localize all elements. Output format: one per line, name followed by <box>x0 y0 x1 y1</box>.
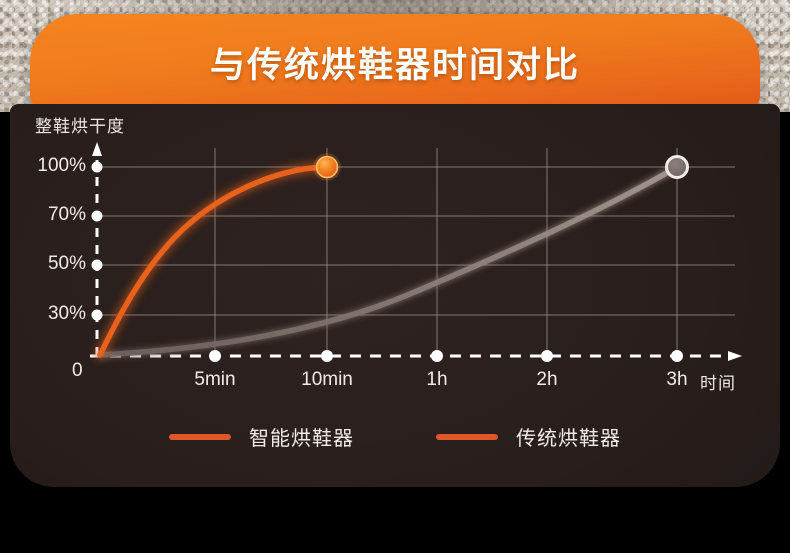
x-tick-label-10min: 10min <box>282 369 372 391</box>
x-tick-label-5min: 5min <box>170 369 260 391</box>
x-tick-label-2h: 2h <box>502 369 592 391</box>
x-tick-label-3h: 3h <box>632 369 722 391</box>
series-traditional-curve <box>100 167 677 355</box>
legend-label-traditional: 传统烘鞋器 <box>516 422 621 451</box>
y-tick-label-70: 70% <box>22 204 86 226</box>
legend-item-traditional: 传统烘鞋器 <box>436 422 621 451</box>
legend-swatch-smart-icon <box>169 434 231 440</box>
chart-panel: 整鞋烘干度 时间 <box>10 104 780 487</box>
legend-swatch-traditional-icon <box>436 434 498 440</box>
y-tick-label-30: 30% <box>22 303 86 325</box>
x-tick-label-1h: 1h <box>392 369 482 391</box>
y-tick-label-50: 50% <box>22 253 86 275</box>
traditional-endpoint-marker <box>667 157 688 178</box>
smart-endpoint-marker <box>313 153 341 181</box>
section-banner: 与传统烘鞋器时间对比 <box>30 14 760 107</box>
y-axis-line <box>92 142 102 358</box>
vertical-gridlines <box>215 148 677 356</box>
legend-item-smart: 智能烘鞋器 <box>169 422 354 451</box>
series-smart-curve <box>100 167 327 355</box>
banner-title: 与传统烘鞋器时间对比 <box>210 37 580 88</box>
origin-label: 0 <box>72 360 83 382</box>
x-axis-line <box>90 351 742 361</box>
chart-legend: 智能烘鞋器 传统烘鞋器 <box>10 422 780 451</box>
legend-label-smart: 智能烘鞋器 <box>249 422 354 451</box>
promo-graphic: 与传统烘鞋器时间对比 整鞋烘干度 时间 <box>0 0 790 553</box>
y-tick-label-100: 100% <box>22 155 86 177</box>
